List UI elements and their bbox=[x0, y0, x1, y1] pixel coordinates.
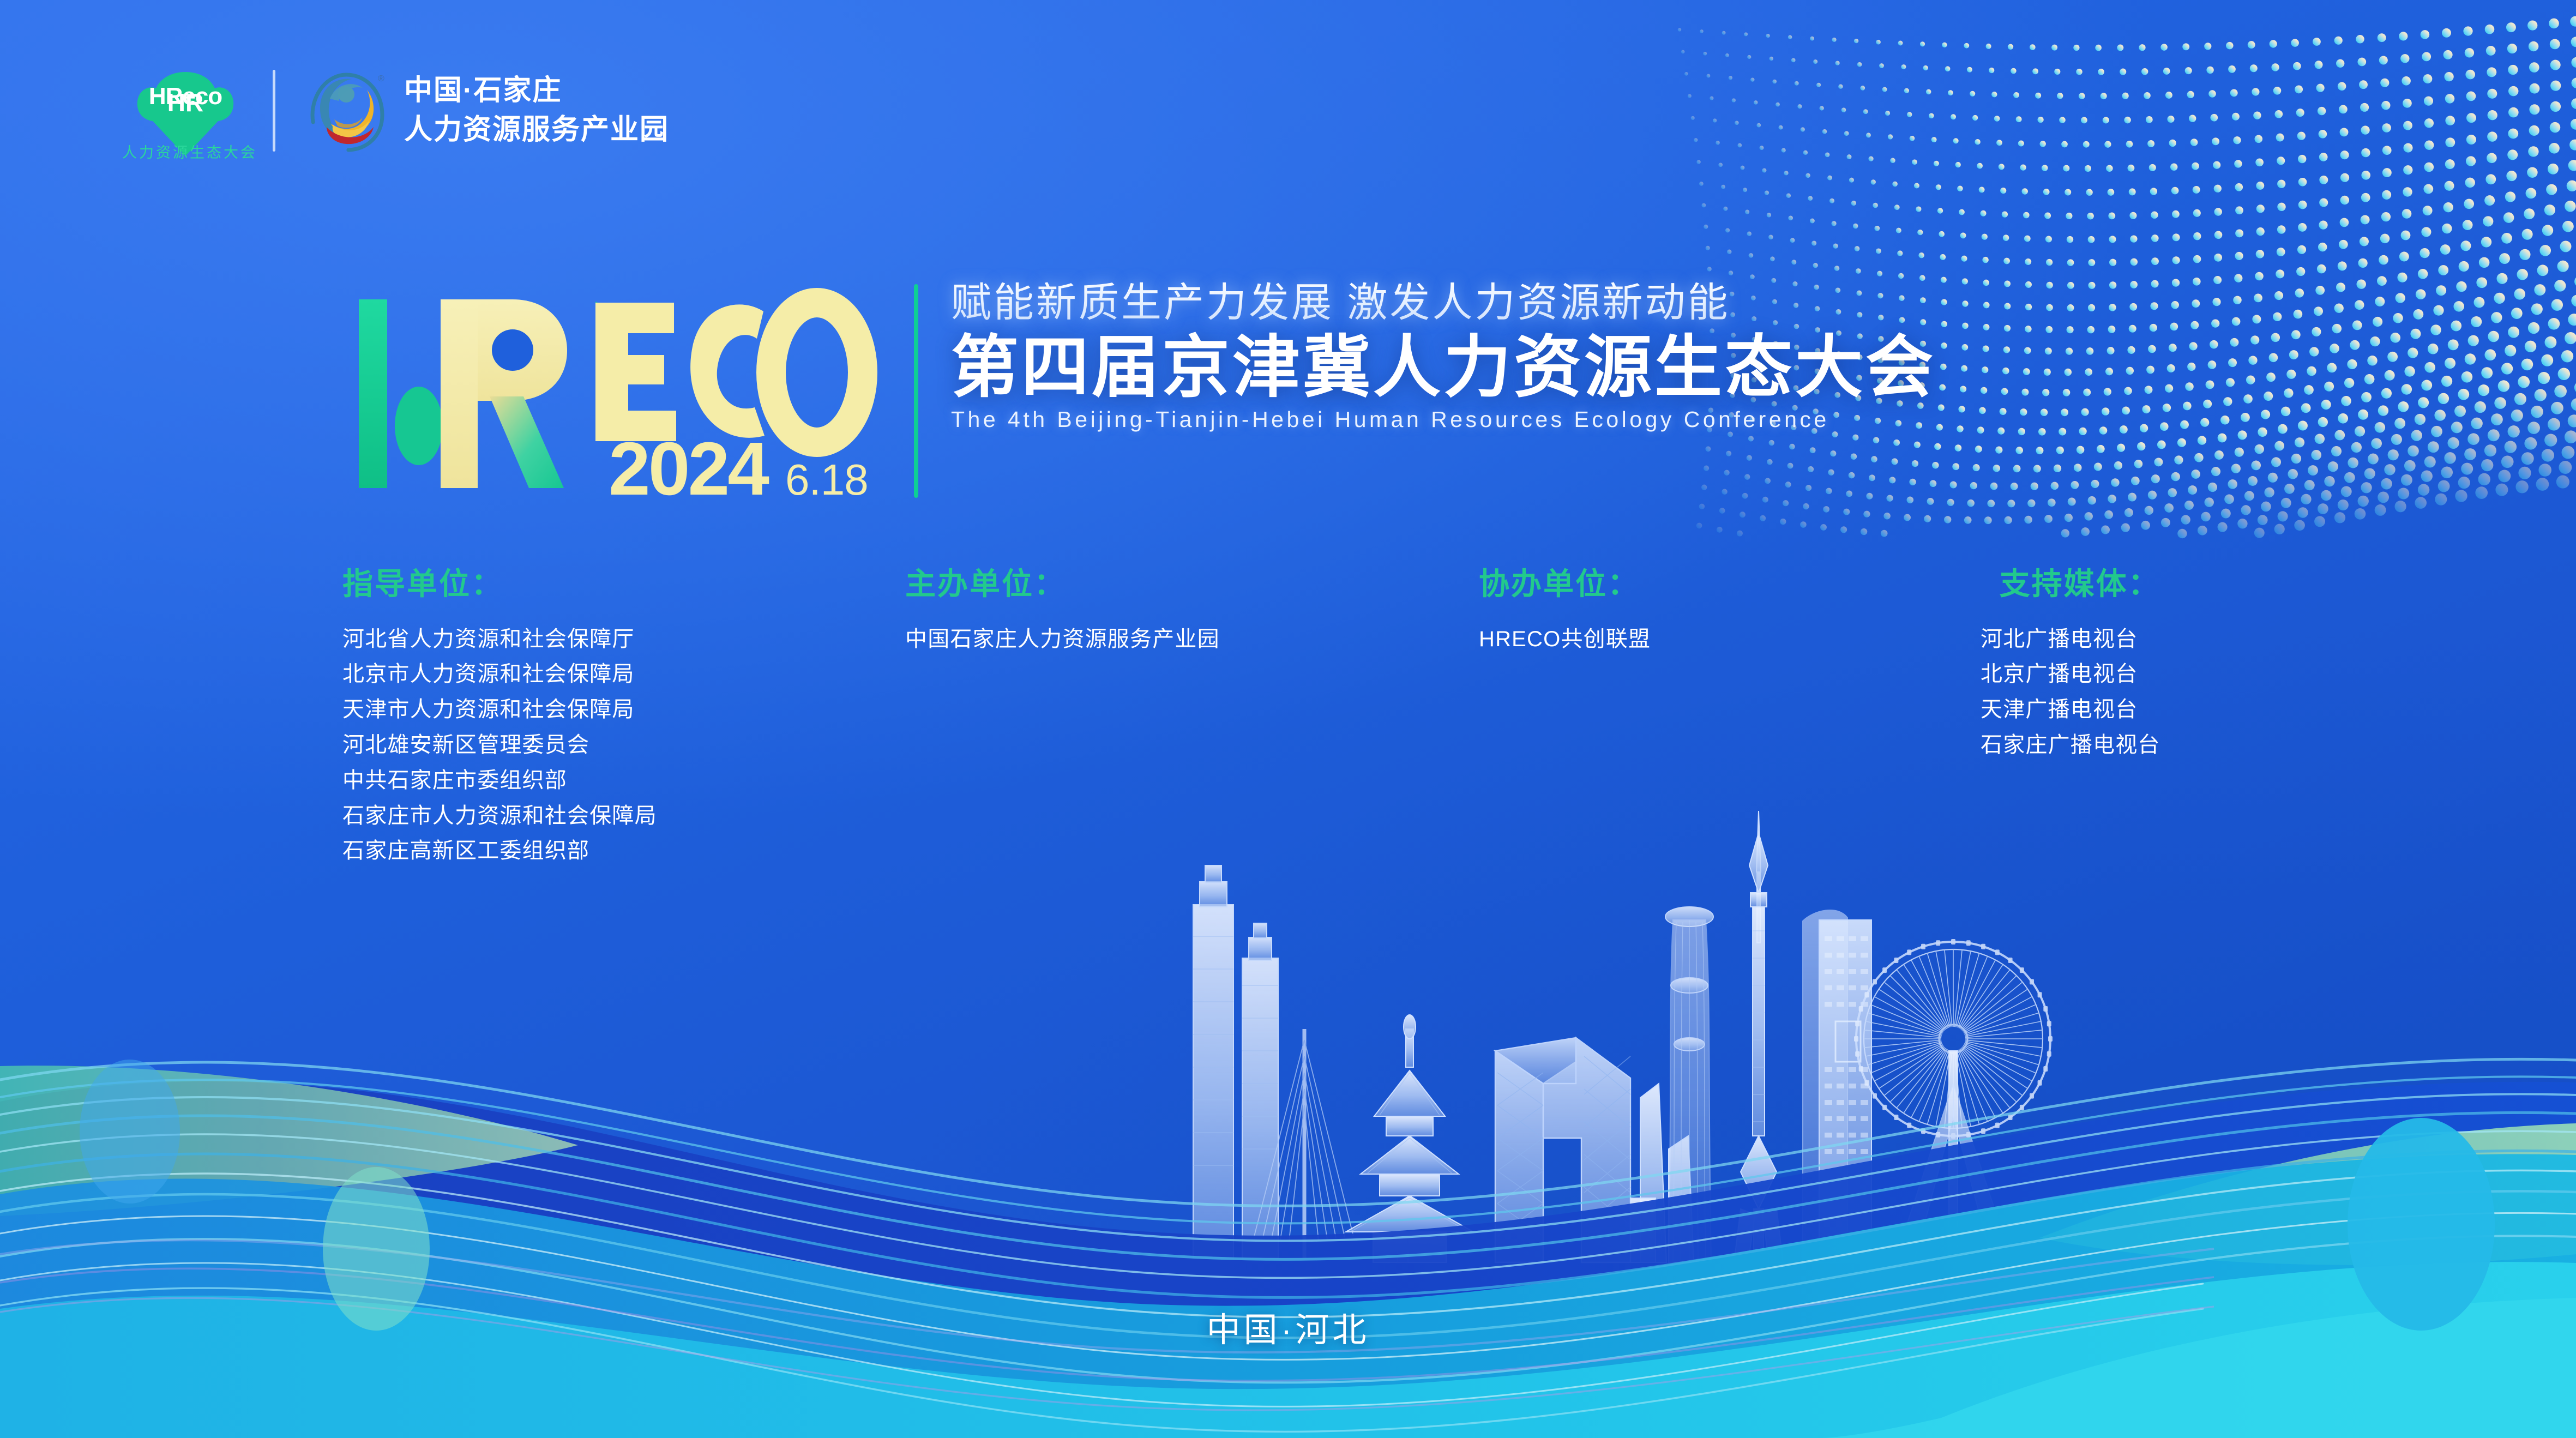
org-column-guidance: 指导单位： 河北省人力资源和社会保障厅 北京市人力资源和社会保障局 天津市人力资… bbox=[342, 567, 657, 869]
svg-text:HR: HR bbox=[167, 88, 203, 117]
org-item: 河北广播电视台 bbox=[1981, 622, 2160, 657]
org-item: 河北省人力资源和社会保障厅 bbox=[342, 622, 657, 657]
park-title-line1: 中国·石家庄 bbox=[404, 75, 669, 107]
org-item: 北京市人力资源和社会保障局 bbox=[342, 657, 657, 692]
industrial-park-logo: ® 中国·石家庄 人力资源服务产业园 bbox=[306, 66, 669, 156]
hreco-wordmark-large: 2024 6.18 bbox=[349, 281, 894, 499]
org-item: HRECO共创联盟 bbox=[1479, 622, 1651, 657]
hero-tagline: 赋能新质生产力发展 激发人力资源新动能 bbox=[951, 281, 1936, 324]
org-item: 中共石家庄市委组织部 bbox=[342, 763, 657, 798]
location-label: 中国·河北 bbox=[0, 1302, 2576, 1351]
org-item: 天津市人力资源和社会保障局 bbox=[342, 692, 657, 727]
org-heading: 支持媒体： bbox=[1981, 567, 2160, 601]
org-item: 石家庄广播电视台 bbox=[1981, 727, 2160, 763]
park-title-line2: 人力资源服务产业园 bbox=[404, 114, 669, 147]
hreco-caption: 人力资源生态大会 bbox=[122, 145, 257, 161]
svg-text:2024: 2024 bbox=[609, 427, 769, 499]
park-emblem-icon: ® bbox=[306, 66, 388, 156]
organization-columns: 指导单位： 河北省人力资源和社会保障厅 北京市人力资源和社会保障局 天津市人力资… bbox=[0, 567, 2576, 873]
org-heading: 协办单位： bbox=[1479, 567, 1651, 601]
org-item: 河北雄安新区管理委员会 bbox=[342, 727, 657, 763]
hreco-fan-logo: HR HReco 人力资源生态大会 bbox=[131, 59, 240, 163]
org-column-media: 支持媒体： 河北广播电视台 北京广播电视台 天津广播电视台 石家庄广播电视台 bbox=[1981, 567, 2160, 763]
top-logo-bar: HR HReco 人力资源生态大会 bbox=[131, 59, 669, 163]
org-item: 天津广播电视台 bbox=[1981, 692, 2160, 727]
hero-english-title: The 4th Beijing-Tianjin-Hebei Human Reso… bbox=[951, 407, 1936, 432]
hero-block: 2024 6.18 赋能新质生产力发展 激发人力资源新动能 第四届京津冀人力资源… bbox=[349, 281, 1936, 499]
org-item: 中国石家庄人力资源服务产业园 bbox=[905, 622, 1220, 657]
svg-text:®: ® bbox=[378, 74, 384, 83]
hero-main-title: 第四届京津冀人力资源生态大会 bbox=[951, 332, 1936, 404]
org-item: 石家庄高新区工委组织部 bbox=[342, 833, 657, 869]
org-column-host: 主办单位： 中国石家庄人力资源服务产业园 bbox=[905, 567, 1220, 657]
conference-banner: HR HReco 人力资源生态大会 bbox=[0, 0, 2576, 1438]
org-item: 北京广播电视台 bbox=[1981, 657, 2160, 692]
logo-divider bbox=[273, 70, 275, 152]
org-column-coorganizer: 协办单位： HRECO共创联盟 bbox=[1479, 567, 1651, 657]
org-heading: 主办单位： bbox=[905, 567, 1220, 601]
svg-text:6.18: 6.18 bbox=[785, 455, 868, 499]
org-item: 石家庄市人力资源和社会保障局 bbox=[342, 798, 657, 834]
hero-green-divider bbox=[914, 284, 918, 498]
org-heading: 指导单位： bbox=[342, 567, 657, 601]
